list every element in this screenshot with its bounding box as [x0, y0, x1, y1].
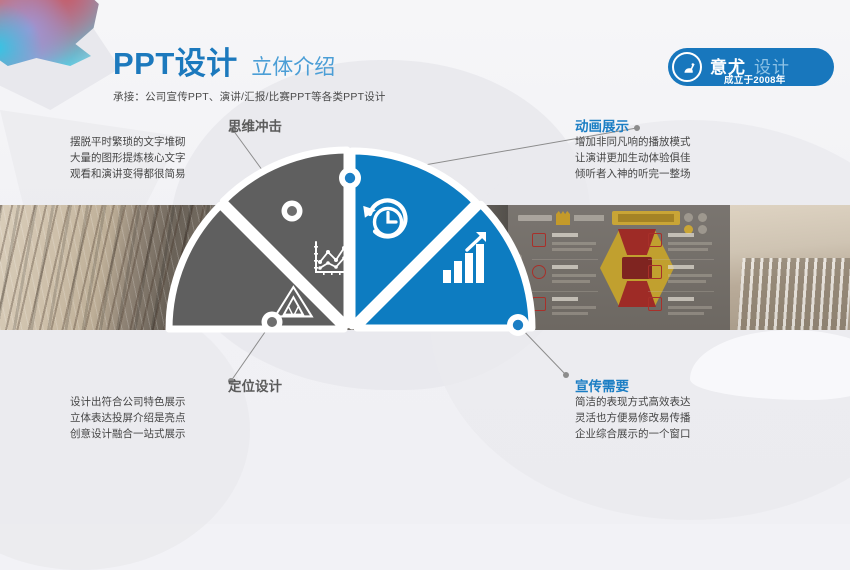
callout-line: 企业综合展示的一个窗口	[575, 427, 787, 443]
slide-canvas: BAMPRO 03 CHANGPRO	[0, 0, 850, 524]
callout-title: 宣传需要	[575, 380, 787, 395]
callout-line: 创意设计融合一站式展示	[70, 427, 282, 443]
half-donut-sector-chart	[0, 0, 850, 524]
node-dingwei-inner	[267, 317, 277, 327]
callout-line: 大量的图形提炼核心文字	[70, 151, 282, 167]
callout-title: 思维冲击	[70, 120, 282, 135]
node-xuanchuan-inner	[513, 320, 523, 330]
callout-line: 倾听者入神的听完一整场	[575, 167, 787, 183]
callout-line: 摆脱平时繁琐的文字堆砌	[70, 135, 282, 151]
callout-line: 增加非同凡响的播放模式	[575, 135, 787, 151]
callout-line: 立体表达投屏介绍是亮点	[70, 411, 282, 427]
callout-title: 定位设计	[70, 380, 282, 395]
callout-line: 让演讲更加生动体验俱佳	[575, 151, 787, 167]
callout-line: 设计出符合公司特色展示	[70, 395, 282, 411]
callout-line: 简洁的表现方式高效表达	[575, 395, 787, 411]
node-donghua-inner	[345, 173, 355, 183]
callout-siwei-chongji: 思维冲击 摆脱平时繁琐的文字堆砌 大量的图形提炼核心文字 观看和演讲变得都很简易	[70, 120, 282, 183]
callout-line: 灵活也方便易修改易传播	[575, 411, 787, 427]
callout-line: 观看和演讲变得都很简易	[70, 167, 282, 183]
node-siwei-inner	[287, 206, 297, 216]
callout-title: 动画展示	[575, 120, 787, 135]
callout-donghua-zhanshi: 动画展示 增加非同凡响的播放模式 让演讲更加生动体验俱佳 倾听者入神的听完一整场	[575, 120, 787, 183]
callout-dingwei-sheji: 定位设计 设计出符合公司特色展示 立体表达投屏介绍是亮点 创意设计融合一站式展示	[70, 380, 282, 443]
callout-xuanchuan-xuyao: 宣传需要 简洁的表现方式高效表达 灵活也方便易修改易传播 企业综合展示的一个窗口	[575, 380, 787, 443]
